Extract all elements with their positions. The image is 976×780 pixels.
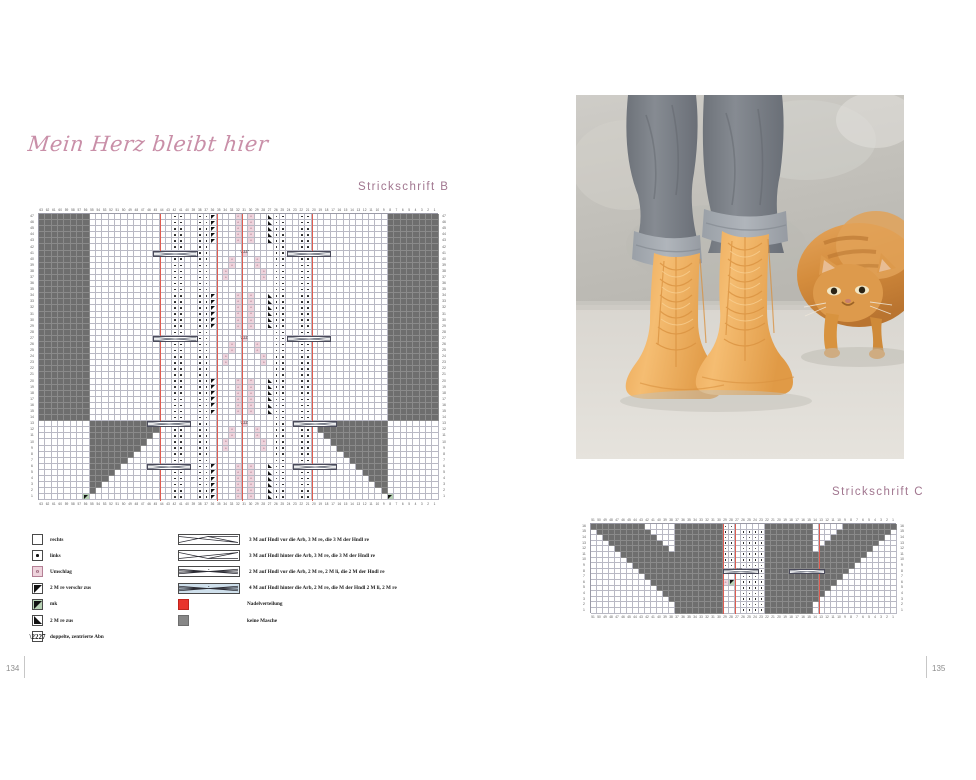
column-numbers-bottom: 5150494847464544434241403938373635343332…	[590, 613, 896, 621]
strickschrift-b-chart: 6362616059585756555453525150494847464544…	[26, 203, 438, 508]
cable-3-front-icon	[178, 534, 240, 545]
legend-item-label: links	[50, 553, 61, 559]
cable-3-back-icon	[178, 550, 240, 561]
needle-division-marker	[217, 214, 218, 501]
chart-cell	[432, 494, 438, 500]
legend-item-yarnover: Umschlag	[32, 566, 72, 577]
legend-item-ssk-triangle: 2 M re verschr zus	[32, 583, 91, 594]
legend-item-grey-swatch: keine Masche	[178, 615, 277, 626]
cable-crossing-symbol	[287, 251, 331, 257]
cable-crossing-symbol	[789, 569, 825, 575]
legend-item-cable-3-front: 3 M auf Hndl vor die Arb, 3 M re, die 3 …	[178, 534, 369, 545]
needle-division-marker	[160, 214, 161, 501]
needle-division-marker	[242, 214, 243, 501]
cable-crossing-symbol	[287, 336, 331, 342]
page-title: Mein Herz bleibt hier	[27, 132, 270, 156]
legend-item-make-one: mk	[32, 599, 57, 610]
legend-item-label: 4 M auf Hndl hinter die Arb, 2 M re, die…	[249, 585, 397, 591]
folio-rule-right	[926, 656, 927, 678]
legend-item-label: Umschlag	[50, 569, 72, 575]
grey-swatch-icon	[178, 615, 189, 626]
row-numbers-right: 16151413121110987654321	[897, 523, 907, 613]
chart-grid	[38, 213, 438, 500]
legend-item-label: mk	[50, 601, 57, 607]
column-number: 1	[890, 613, 896, 621]
legend-right-column: 3 M auf Hndl vor die Arb, 3 M re, die 3 …	[178, 534, 468, 634]
dot-square-icon	[32, 550, 43, 561]
column-number: 1	[431, 500, 437, 508]
chart-cell	[891, 608, 897, 614]
sock-photo	[576, 95, 904, 459]
cable-crossing-symbol	[723, 569, 759, 575]
cable-4-back-icon: ••	[178, 583, 240, 594]
svg-text:••: ••	[208, 585, 209, 589]
legend-item-red-swatch: Nadelverteilung	[178, 599, 282, 610]
needle-division-marker	[312, 214, 313, 501]
cable-crossing-symbol	[147, 421, 191, 427]
sock-photo-illustration	[576, 95, 904, 459]
strickschrift-c-chart: 5150494847464544434241403938373635343332…	[576, 513, 906, 619]
legend-item-dot-square: links	[32, 550, 61, 561]
ssk-triangle-icon	[32, 583, 43, 594]
row-number: 1	[579, 607, 589, 613]
legend-item-label: 2 M re verschr zus	[50, 585, 91, 591]
chart-c-label: Strickschrift C	[832, 486, 924, 498]
cable-crossing-symbol	[153, 251, 197, 257]
folio-rule-left	[24, 656, 25, 678]
legend-item-label: Nadelverteilung	[247, 601, 282, 607]
row-number: 1	[897, 607, 907, 613]
page-number-left: 134	[6, 664, 19, 673]
empty-square-icon	[32, 534, 43, 545]
centered-double-dec-icon	[32, 631, 43, 642]
row-numbers-right: 4746454443424140393837363534333231302928…	[439, 213, 449, 500]
legend-item-cable-3-back: 3 M auf Hndl hinter die Arb, 3 M re, die…	[178, 550, 375, 561]
make-one-icon	[32, 599, 43, 610]
row-numbers-left: 16151413121110987654321	[579, 523, 589, 613]
legend-item-cable-2-front: ••2 M auf Hndl vor die Arb, 2 M re, 2 M …	[178, 566, 385, 577]
cable-crossing-symbol	[147, 464, 191, 470]
book-page-spread: Mein Herz bleibt hier Strickschrift B 63…	[0, 0, 976, 780]
legend-item-k2tog-triangle: 2 M re zus	[32, 615, 73, 626]
row-numbers-left: 4746454443424140393837363534333231302928…	[27, 213, 37, 500]
legend-item-label: 3 M auf Hndl vor die Arb, 3 M re, die 3 …	[249, 537, 369, 543]
legend-item-label: 2 M auf Hndl vor die Arb, 2 M re, 2 M li…	[249, 569, 385, 575]
legend-item-label: doppelte, zentrierte Abn	[50, 634, 104, 640]
row-number: 1	[27, 493, 37, 499]
yarnover-icon	[32, 566, 43, 577]
chart-b-label: Strickschrift B	[358, 181, 449, 193]
legend-item-empty-square: rechts	[32, 534, 63, 545]
k2tog-triangle-icon	[32, 615, 43, 626]
legend-item-label: 2 M re zus	[50, 618, 73, 624]
cable-crossing-symbol	[293, 421, 337, 427]
column-numbers-bottom: 6362616059585756555453525150494847464544…	[38, 500, 438, 508]
legend-item-label: keine Masche	[247, 618, 277, 624]
legend-item-label: 3 M auf Hndl hinter die Arb, 3 M re, die…	[249, 553, 375, 559]
row-number: 1	[439, 493, 449, 499]
legend-item-cable-4-back: ••4 M auf Hndl hinter die Arb, 2 M re, d…	[178, 583, 397, 594]
page-number-right: 135	[932, 664, 945, 673]
legend-item-label: rechts	[50, 537, 63, 543]
cable-2-front-icon: ••	[178, 566, 240, 577]
svg-text:••: ••	[208, 568, 209, 572]
cable-crossing-symbol	[153, 336, 197, 342]
legend-item-centered-double-dec: doppelte, zentrierte Abn	[32, 631, 104, 642]
chart-grid	[590, 523, 896, 613]
cable-crossing-symbol	[293, 464, 337, 470]
red-swatch-icon	[178, 599, 189, 610]
